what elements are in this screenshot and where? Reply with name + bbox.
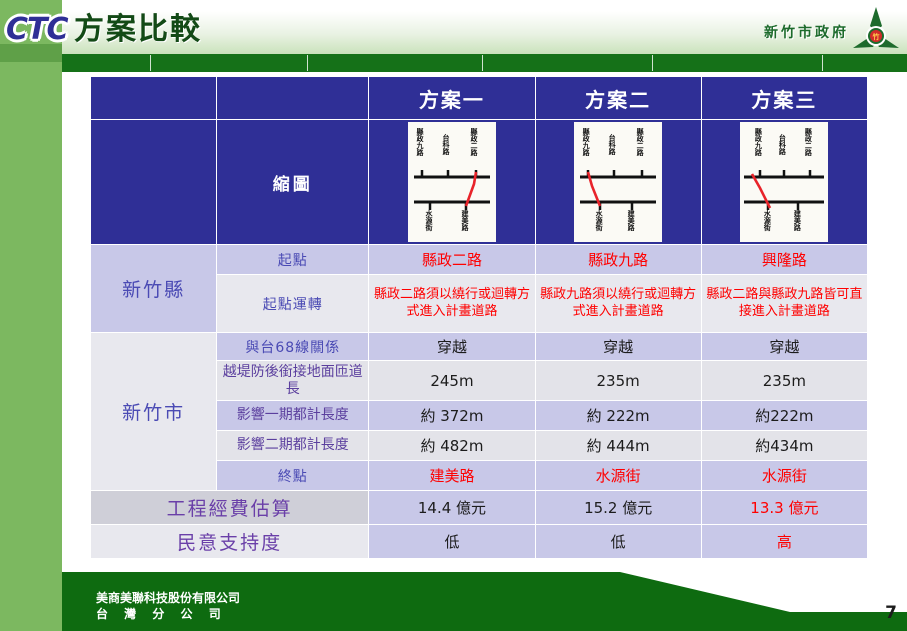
company-name-line-1: 美商美聯科技股份有限公司 — [96, 589, 240, 606]
table-row-start-point: 新竹縣 起點 縣政二路 縣政九路 興隆路 — [91, 245, 868, 275]
svg-text:竹: 竹 — [872, 32, 880, 41]
cell-public-support-option-1: 低 — [369, 525, 535, 559]
page-title: 方案比較 — [74, 4, 202, 48]
cell-start-operation-option-3: 縣政二路與縣政九路皆可直接進入計畫道路 — [701, 275, 867, 333]
cell-phase1-length-option-2: 約 222m — [535, 401, 701, 431]
table-row-cost-estimate: 工程經費估算 14.4 億元 15.2 億元 13.3 億元 — [91, 491, 868, 525]
row-label-start-point: 起點 — [217, 245, 369, 275]
cell-public-support-option-3: 高 — [701, 525, 867, 559]
header-corner-cell-a — [91, 77, 217, 120]
cell-end-point-option-2: 水源街 — [535, 461, 701, 491]
diagram3-bottom-label-1: 水源街 — [763, 210, 770, 231]
thumbnail-row-label: 縮圖 — [217, 120, 369, 245]
table-header-row: 方案一 方案二 方案三 — [91, 77, 868, 120]
cell-end-point-option-3: 水源街 — [701, 461, 867, 491]
cell-start-point-option-3: 興隆路 — [701, 245, 867, 275]
row-label-phase2-length: 影響二期都計長度 — [217, 431, 369, 461]
thumbnail-row: 縮圖 縣政九路 台科路 縣政二路 水源街 建美路 — [91, 120, 868, 245]
column-header-option-3: 方案三 — [701, 77, 867, 120]
cell-phase2-length-option-2: 約 444m — [535, 431, 701, 461]
footer-left-rail — [0, 572, 62, 631]
cell-t68-relation-option-2: 穿越 — [535, 333, 701, 361]
diagram3-bottom-label-2: 建美路 — [793, 210, 800, 231]
diagram2-bottom-label-2: 建美路 — [627, 210, 634, 231]
ctc-logo: CTC — [6, 12, 68, 47]
cell-ramp-length-option-2: 235m — [535, 361, 701, 401]
cell-start-point-option-1: 縣政二路 — [369, 245, 535, 275]
thumbnail-cell-option-1: 縣政九路 台科路 縣政二路 水源街 建美路 — [369, 120, 535, 245]
government-label: 新竹市政府 — [764, 22, 849, 42]
cell-start-operation-option-2: 縣政九路須以繞行或迴轉方式進入計畫道路 — [535, 275, 701, 333]
row-label-t68-relation: 與台68線關係 — [217, 333, 369, 361]
diagram2-bottom-label-1: 水源街 — [595, 210, 602, 231]
route-diagram-option-1: 縣政九路 台科路 縣政二路 水源街 建美路 — [408, 122, 496, 242]
row-label-public-support: 民意支持度 — [91, 525, 369, 559]
cell-t68-relation-option-1: 穿越 — [369, 333, 535, 361]
table-row-t68-relation: 新竹市 與台68線關係 穿越 穿越 穿越 — [91, 333, 868, 361]
cell-start-operation-option-1: 縣政二路須以繞行或迴轉方式進入計畫道路 — [369, 275, 535, 333]
diagram1-bottom-label-2: 建美路 — [461, 210, 468, 231]
left-sidebar-rail — [0, 0, 62, 631]
cell-cost-estimate-option-1: 14.4 億元 — [369, 491, 535, 525]
header-corner-cell-b — [217, 77, 369, 120]
thumbnail-cell-option-2: 縣政九路 台科路 縣政二路 水源街 建美路 — [535, 120, 701, 245]
cell-cost-estimate-option-2: 15.2 億元 — [535, 491, 701, 525]
cell-ramp-length-option-1: 245m — [369, 361, 535, 401]
route-diagram-option-2: 縣政九路 台科路 縣政二路 水源街 建美路 — [574, 122, 662, 242]
column-header-option-2: 方案二 — [535, 77, 701, 120]
comparison-table: 方案一 方案二 方案三 縮圖 縣政九路 台科路 縣政二路 — [90, 76, 868, 559]
cell-t68-relation-option-3: 穿越 — [701, 333, 867, 361]
row-label-ramp-length: 越堤防後銜接地面匝道長 — [217, 361, 369, 401]
cell-start-point-option-2: 縣政九路 — [535, 245, 701, 275]
diagram1-bottom-label-1: 水源街 — [425, 210, 432, 231]
cell-phase2-length-option-1: 約 482m — [369, 431, 535, 461]
company-name-line-2: 台 灣 分 公 司 — [96, 605, 227, 622]
page-number: 7 — [885, 603, 897, 623]
table-row-public-support: 民意支持度 低 低 高 — [91, 525, 868, 559]
thumbnail-cell-option-3: 縣政九路 台科路 縣政二路 水源街 建美路 — [701, 120, 867, 245]
cell-public-support-option-2: 低 — [535, 525, 701, 559]
cell-phase1-length-option-3: 約222m — [701, 401, 867, 431]
group-label-hsinchu-county: 新竹縣 — [91, 245, 217, 333]
column-header-option-1: 方案一 — [369, 77, 535, 120]
cell-cost-estimate-option-3: 13.3 億元 — [701, 491, 867, 525]
row-label-end-point: 終點 — [217, 461, 369, 491]
hsinchu-city-emblem-icon: 竹 — [851, 6, 901, 58]
group-label-hsinchu-city: 新竹市 — [91, 333, 217, 491]
row-label-phase1-length: 影響一期都計長度 — [217, 401, 369, 431]
row-label-start-operation: 起點運轉 — [217, 275, 369, 333]
cell-end-point-option-1: 建美路 — [369, 461, 535, 491]
comparison-table-wrap: 方案一 方案二 方案三 縮圖 縣政九路 台科路 縣政二路 — [90, 76, 868, 576]
row-label-cost-estimate: 工程經費估算 — [91, 491, 369, 525]
route-diagram-option-3: 縣政九路 台科路 縣政二路 水源街 建美路 — [740, 122, 828, 242]
header-green-bar — [62, 54, 907, 72]
cell-phase2-length-option-3: 約434m — [701, 431, 867, 461]
cell-phase1-length-option-1: 約 372m — [369, 401, 535, 431]
cell-ramp-length-option-3: 235m — [701, 361, 867, 401]
slide-header: 方案比較 新竹市政府 竹 — [62, 0, 907, 62]
thumbnail-row-group-cell — [91, 120, 217, 245]
